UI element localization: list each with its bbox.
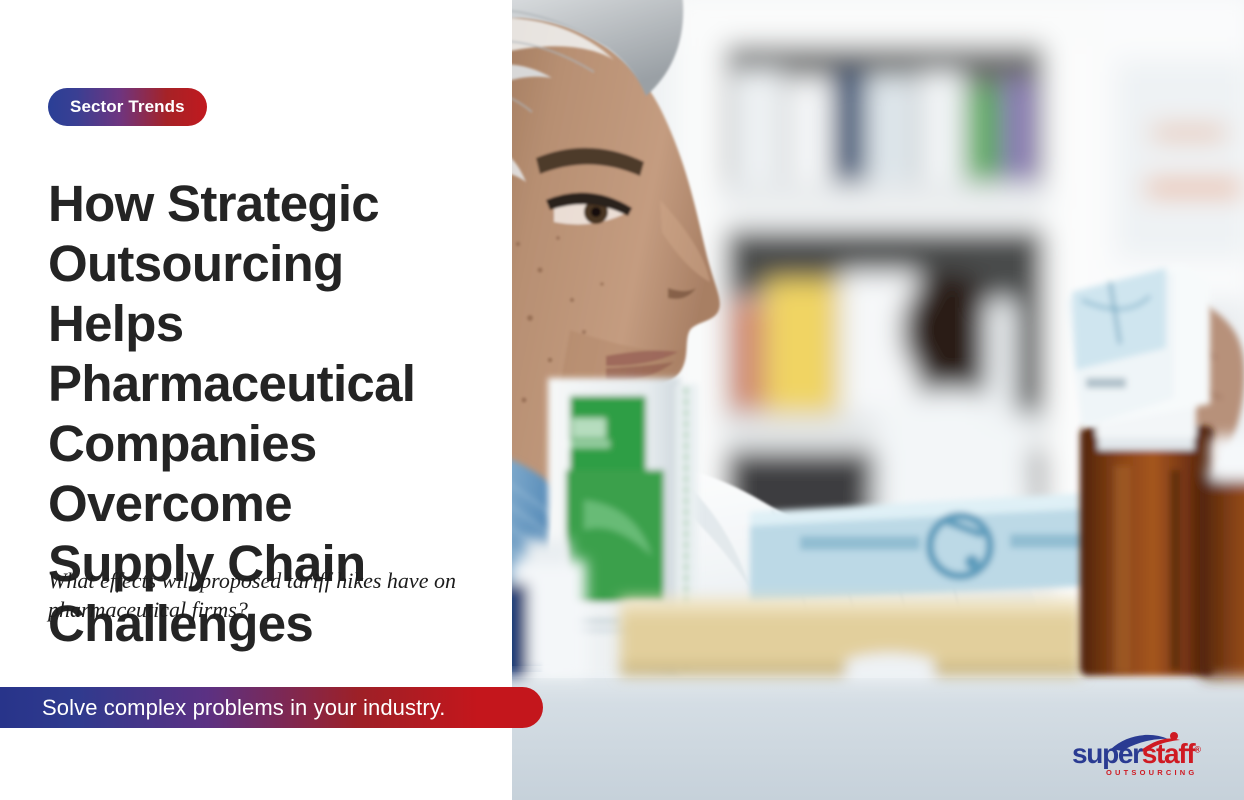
logo-word-staff: staff	[1142, 738, 1195, 769]
subtitle: What effects will proposed tariff hikes …	[48, 566, 468, 624]
sector-trends-badge[interactable]: Sector Trends	[48, 88, 207, 126]
badge-label: Sector Trends	[70, 97, 185, 117]
superstaff-logo[interactable]: superstaff® OUTSOURCING	[1072, 732, 1222, 776]
held-box	[1066, 264, 1210, 428]
cta-banner-label: Solve complex problems in your industry.	[42, 695, 445, 721]
logo-word-super: super	[1072, 738, 1142, 769]
registered-mark-icon: ®	[1194, 745, 1201, 755]
hero-photo	[510, 0, 1244, 800]
cta-banner[interactable]: Solve complex problems in your industry.	[0, 687, 543, 728]
tan-box	[620, 598, 1082, 678]
pharmacy-scene-illustration	[510, 0, 1244, 800]
left-text-panel: Sector Trends How Strategic Outsourcing …	[0, 0, 512, 800]
poster-canvas: Sector Trends How Strategic Outsourcing …	[0, 0, 1244, 800]
logo-tagline: OUTSOURCING	[1106, 768, 1197, 777]
white-bottle	[510, 540, 586, 676]
logo-wordmark: superstaff®	[1072, 740, 1201, 768]
amber-bottles	[1080, 396, 1244, 678]
